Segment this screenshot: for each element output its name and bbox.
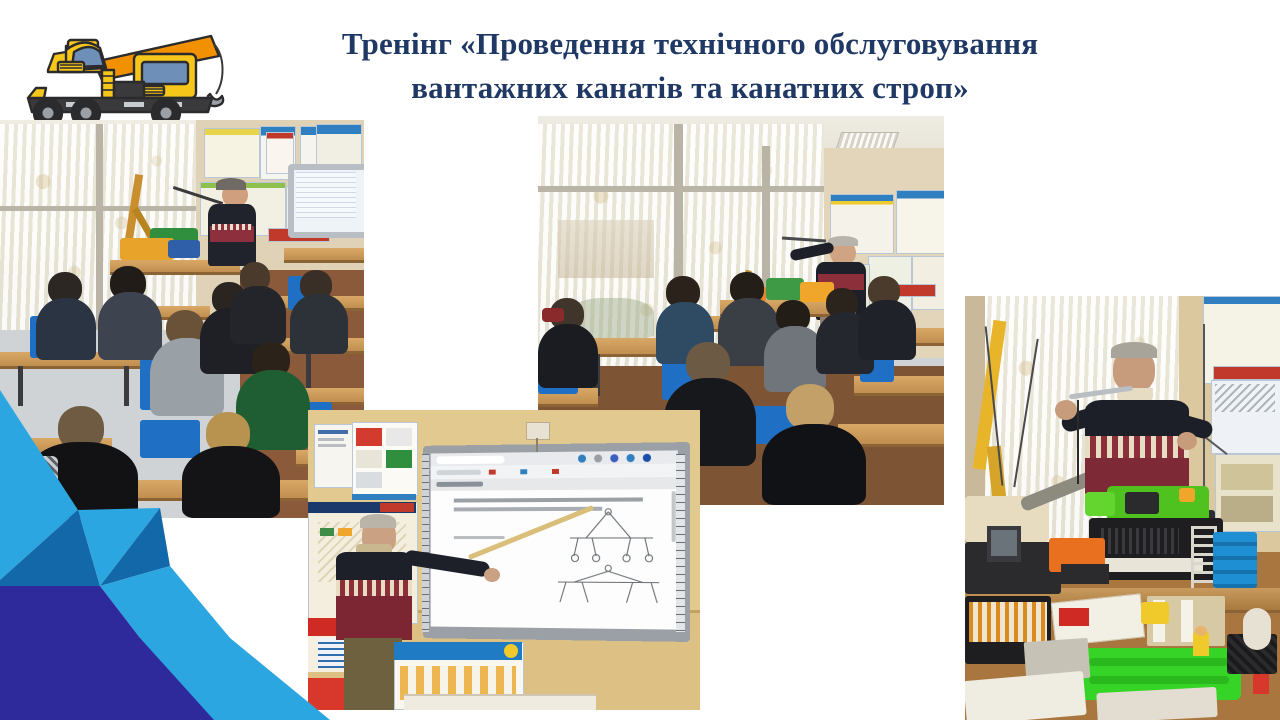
photo-caption-1: Аудиторія: викладач біля моделі крана, с… [0, 0, 1, 1]
photo-rope-sample [965, 296, 1280, 720]
photo-whiteboard-demo [308, 410, 700, 710]
whiteboard-screen-label: Схема траверси / канатних строп [0, 0, 1, 1]
photo-caption-4: Викладач демонструє зразок вантажного ка… [0, 0, 1, 1]
logo-alt-text: Жовтий автокран [0, 0, 1, 1]
slide-canvas: Тренінг «Проведення технічного обслугову… [0, 0, 1280, 720]
photo-caption-2: Загальний вид аудиторії з великими вікна… [0, 0, 1, 1]
slide-title: Тренінг «Проведення технічного обслугову… [240, 22, 1140, 110]
photo-caption-3: Викладач показує вказівкою схему траверс… [0, 0, 1, 1]
crane-logo [6, 10, 231, 130]
geometric-corner-decor [0, 390, 330, 720]
